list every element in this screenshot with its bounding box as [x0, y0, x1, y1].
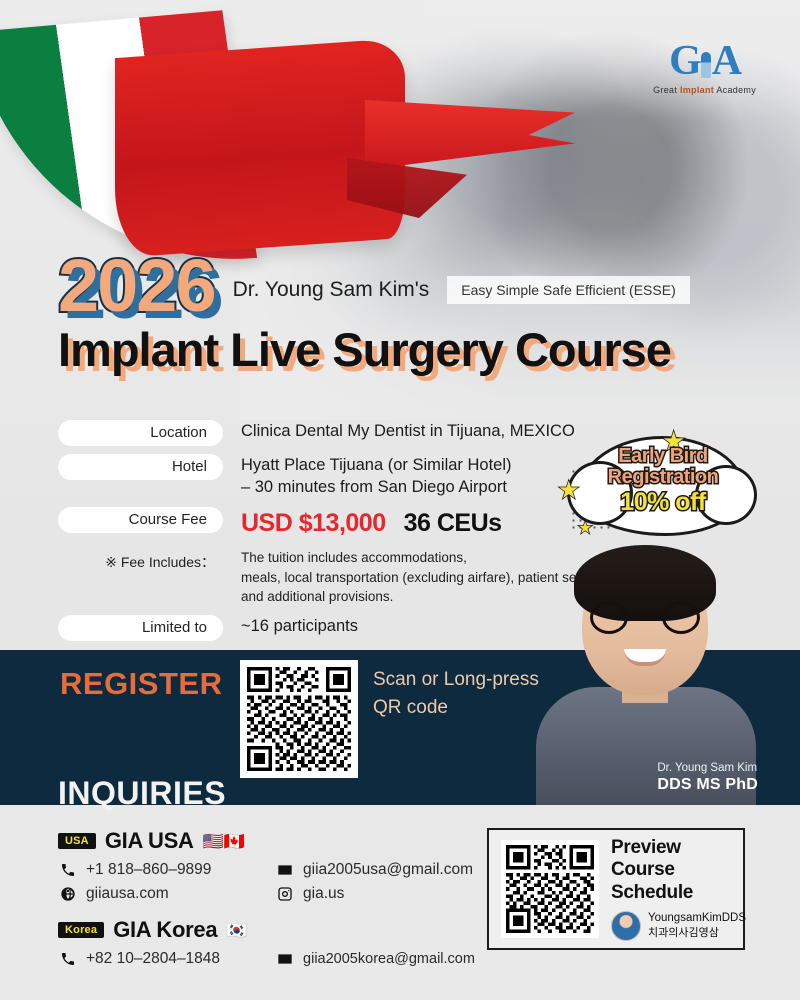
gia-logo-mark: GA [653, 40, 756, 82]
mail-icon [275, 949, 294, 968]
gia-logo-g: G [669, 38, 700, 84]
channel-avatar [611, 911, 641, 941]
early-bird-line2: Registration [570, 467, 756, 488]
contact-phone-usa[interactable]: +1 818–860–9899 [58, 860, 261, 879]
flag-icon-korea: 🇰🇷 [226, 922, 247, 939]
early-bird-line1: Early Bird [570, 446, 756, 467]
price-amount: USD $13,000 [241, 507, 386, 541]
star-icon: ★ [578, 518, 592, 538]
preview-title: Preview Course Schedule [611, 837, 746, 903]
org-name-usa: GIA USA [105, 828, 194, 854]
qr-code-image [247, 667, 351, 771]
doctor-caption: Dr. Young Sam Kim DDS MS PhD [657, 762, 758, 794]
org-header-usa: USA GIA USA 🇺🇸🇨🇦 [58, 828, 488, 854]
year-heading: 2026 [58, 252, 215, 320]
mail-icon [275, 860, 294, 879]
label-limited-to: Limited to [58, 615, 223, 641]
gia-logo-tagline: Great Implant Academy [653, 85, 756, 95]
instagram-icon [275, 884, 294, 903]
label-hotel: Hotel [58, 454, 223, 480]
gia-logo-a: A [712, 38, 740, 84]
early-bird-discount: 10% off [570, 489, 756, 517]
doctor-credentials: DDS MS PhD [657, 776, 758, 794]
page-title: Implant Live Surgery Course [58, 322, 758, 377]
detail-row-hotel: Hotel Hyatt Place Tijuana (or Similar Ho… [58, 454, 618, 499]
globe-icon [58, 884, 77, 903]
contact-instagram-usa[interactable]: gia.us [275, 884, 488, 903]
early-bird-badge: Early Bird Registration 10% off ★ ★ ★ [560, 432, 760, 542]
contact-block-usa: USA GIA USA 🇺🇸🇨🇦 +1 818–860–9899 giiausa… [58, 828, 488, 903]
org-header-korea: Korea GIA Korea 🇰🇷 [58, 917, 488, 943]
phone-number-korea: +82 10–2804–1848 [86, 950, 220, 968]
gia-logo: GA Great Implant Academy [653, 40, 756, 95]
label-course-fee: Course Fee [58, 507, 223, 533]
implant-screw-icon [701, 52, 711, 78]
label-fee-includes: ※ Fee Includes： [58, 548, 223, 576]
glasses-icon [588, 601, 702, 635]
website-usa: giiausa.com [86, 885, 169, 903]
flag-icons-usa-canada: 🇺🇸🇨🇦 [203, 833, 245, 850]
email-usa: giia2005usa@gmail.com [303, 861, 473, 879]
phone-icon [58, 860, 77, 879]
poster-root: GA Great Implant Academy 2026 Dr. Young … [0, 0, 800, 1000]
country-tag-usa: USA [58, 833, 96, 849]
presenter-name: Dr. Young Sam Kim's [233, 278, 430, 320]
contact-phone-korea[interactable]: +82 10–2804–1848 [58, 949, 261, 968]
contact-email-usa[interactable]: giia2005usa@gmail.com [275, 860, 488, 879]
register-qr-code[interactable] [240, 660, 358, 778]
value-limited-to: ~16 participants [223, 615, 358, 637]
doctor-name: Dr. Young Sam Kim [657, 762, 758, 774]
channel-name-korean: 치과의사김영삼 [648, 926, 746, 940]
value-course-fee: USD $13,00036 CEUs [223, 507, 502, 541]
esse-badge: Easy Simple Safe Efficient (ESSE) [447, 276, 690, 304]
scan-instruction: Scan or Long-press QR code [373, 666, 539, 721]
value-location: Clinica Dental My Dentist in Tijuana, ME… [223, 420, 575, 442]
title-block: 2026 Dr. Young Sam Kim's Easy Simple Saf… [58, 252, 758, 377]
phone-number-usa: +1 818–860–9899 [86, 861, 211, 879]
ceu-count: 36 CEUs [404, 507, 502, 541]
preview-schedule-card[interactable]: Preview Course Schedule YoungsamKimDDS 치… [487, 828, 745, 950]
org-name-korea: GIA Korea [113, 917, 217, 943]
label-location: Location [58, 420, 223, 446]
inquiries-heading: INQUIRIES [58, 775, 226, 812]
channel-name: YoungsamKimDDS [648, 911, 746, 926]
contacts-section: USA GIA USA 🇺🇸🇨🇦 +1 818–860–9899 giiausa… [58, 828, 488, 982]
detail-row-location: Location Clinica Dental My Dentist in Ti… [58, 420, 618, 446]
register-heading: REGISTER [60, 666, 222, 702]
qr-code-image [506, 845, 594, 933]
value-hotel: Hyatt Place Tijuana (or Similar Hotel) –… [223, 454, 512, 499]
contact-block-korea: Korea GIA Korea 🇰🇷 +82 10–2804–1848 giia… [58, 917, 488, 968]
youtube-channel-row: YoungsamKimDDS 치과의사김영삼 [611, 911, 746, 941]
phone-icon [58, 949, 77, 968]
detail-row-course-fee: Course Fee USD $13,00036 CEUs [58, 507, 618, 541]
contact-email-korea[interactable]: giia2005korea@gmail.com [275, 949, 488, 968]
country-tag-korea: Korea [58, 922, 104, 938]
email-korea: giia2005korea@gmail.com [303, 951, 475, 967]
preview-qr-code[interactable] [501, 840, 599, 938]
instagram-usa: gia.us [303, 885, 344, 903]
contact-website-usa[interactable]: giiausa.com [58, 884, 261, 903]
